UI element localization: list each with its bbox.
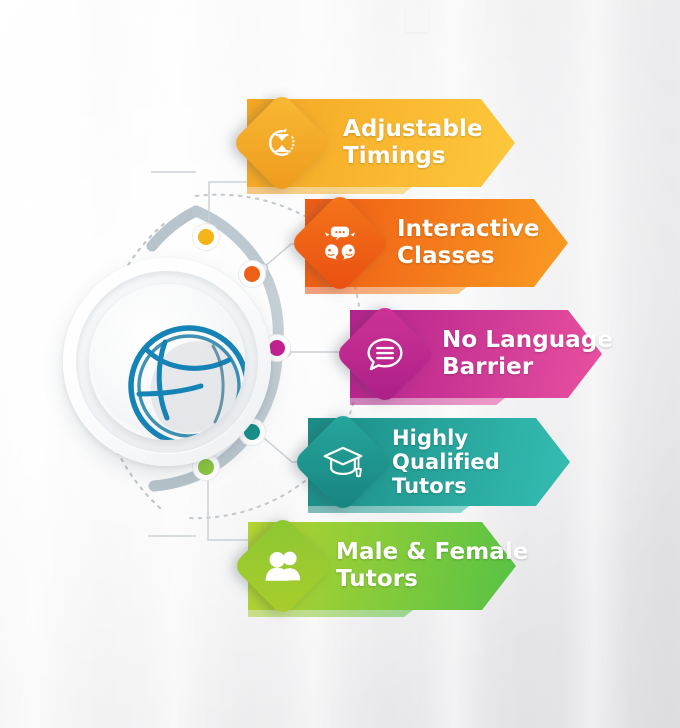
graduation-cap-icon <box>314 433 372 491</box>
banner-label-line: Adjustable <box>343 116 483 143</box>
background-chip <box>406 6 428 32</box>
timer-icon <box>253 114 311 172</box>
banner-label-line: Male & Female <box>336 539 529 566</box>
banner-label-line: No Language <box>442 327 613 354</box>
feature-banner-no-language-barrier[interactable]: No LanguageBarrier <box>350 310 602 398</box>
banner-label: No LanguageBarrier <box>442 310 613 398</box>
banner-label: Male & FemaleTutors <box>336 522 529 610</box>
banner-label-line: Tutors <box>392 474 500 498</box>
globe-head-icon <box>109 302 245 440</box>
banner-label-line: Qualified <box>392 450 500 474</box>
banner-label-line: Classes <box>397 243 540 270</box>
banner-fold <box>305 286 468 294</box>
banner-label-line: Timings <box>343 143 483 170</box>
feature-banner-interactive-classes[interactable]: InteractiveClasses <box>305 199 568 287</box>
banner-fold <box>350 397 506 405</box>
banner-label-line: Barrier <box>442 354 613 381</box>
banner-label-line: Highly <box>392 426 500 450</box>
banner-fold <box>248 609 414 617</box>
banner-fold <box>308 505 470 513</box>
feature-banner-highly-qualified-tutors[interactable]: HighlyQualifiedTutors <box>308 418 570 506</box>
two-people-icon <box>254 537 312 595</box>
banner-label-line: Tutors <box>336 566 529 593</box>
emblem-disc <box>89 284 245 440</box>
infographic-canvas: AdjustableTimings InteractiveClasses <box>0 0 680 728</box>
banner-label: AdjustableTimings <box>343 99 483 187</box>
banner-label: HighlyQualifiedTutors <box>392 418 500 506</box>
banner-label: InteractiveClasses <box>397 199 540 287</box>
center-emblem <box>63 258 271 466</box>
chat-lines-icon <box>356 325 414 383</box>
feature-banner-adjustable-timings[interactable]: AdjustableTimings <box>247 99 515 187</box>
banner-fold <box>247 186 413 194</box>
feature-banner-male-female-tutors[interactable]: Male & FemaleTutors <box>248 522 516 610</box>
speech-heads-icon <box>311 214 369 272</box>
banner-label-line: Interactive <box>397 216 540 243</box>
